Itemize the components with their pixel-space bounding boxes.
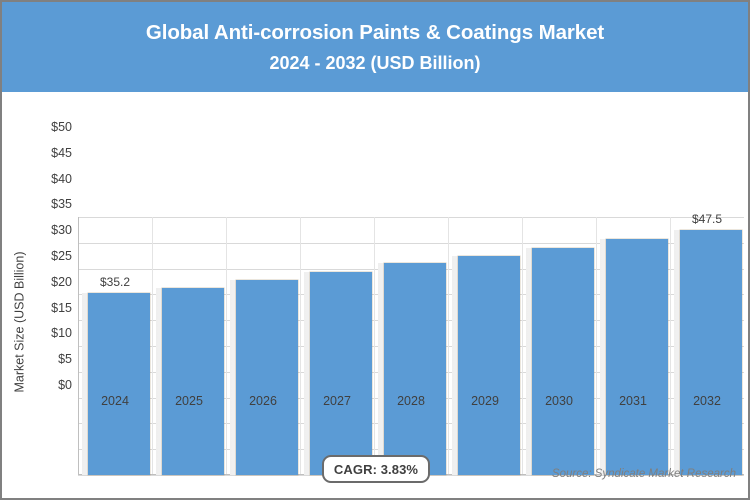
y-axis-tick-label: $20 xyxy=(32,276,72,288)
bar[interactable] xyxy=(384,263,446,475)
y-axis-tick-label: $35 xyxy=(32,198,72,210)
bar[interactable] xyxy=(236,280,298,475)
y-axis-tick-label: $10 xyxy=(32,327,72,339)
bar-slot[interactable] xyxy=(522,217,596,475)
bar[interactable] xyxy=(310,272,372,475)
y-axis-tick-label: $5 xyxy=(32,353,72,365)
source-note: Source: Syndicate Market Research xyxy=(552,468,736,480)
x-axis-tick-label: 2028 xyxy=(374,394,448,408)
bar[interactable] xyxy=(162,288,224,475)
y-axis-title-label: Market Size (USD Billion) xyxy=(12,251,26,392)
x-axis-tick-label: 2031 xyxy=(596,394,670,408)
y-axis-tick-label: $25 xyxy=(32,250,72,262)
y-axis-tick-label: $0 xyxy=(32,379,72,391)
y-axis-tick-label: $30 xyxy=(32,224,72,236)
bar-slot[interactable] xyxy=(300,217,374,475)
bar-slot[interactable] xyxy=(670,217,744,475)
page-title: Global Anti-corrosion Paints & Coatings … xyxy=(146,21,604,45)
x-axis-tick-label: 2024 xyxy=(78,394,152,408)
x-axis-tick-label: 2029 xyxy=(448,394,522,408)
bar-value-label: $35.2 xyxy=(78,275,152,289)
bar-slot[interactable] xyxy=(152,217,226,475)
x-axis-tick-label: 2030 xyxy=(522,394,596,408)
page-subtitle: 2024 - 2032 (USD Billion) xyxy=(269,53,480,74)
bar-value-label: $47.5 xyxy=(670,212,744,226)
x-axis-tick-label: 2027 xyxy=(300,394,374,408)
bar-chart-canvas: $35.2$47.5 xyxy=(78,217,744,475)
cagr-badge: CAGR: 3.83% xyxy=(322,455,430,483)
y-axis-title: Market Size (USD Billion) xyxy=(8,212,30,432)
bar[interactable] xyxy=(606,239,668,475)
bar-slot[interactable] xyxy=(226,217,300,475)
bar[interactable] xyxy=(88,293,150,475)
chart-frame: Global Anti-corrosion Paints & Coatings … xyxy=(0,0,750,500)
y-axis-tick-label: $40 xyxy=(32,173,72,185)
chart-plot-region: Market Size (USD Billion) $0$5$10$15$20$… xyxy=(2,92,748,498)
bar-slot[interactable] xyxy=(374,217,448,475)
x-axis-tick-label: 2025 xyxy=(152,394,226,408)
x-axis-tick-label: 2032 xyxy=(670,394,744,408)
bar[interactable] xyxy=(532,248,594,475)
y-axis-tick-label: $15 xyxy=(32,302,72,314)
chart-header-banner: Global Anti-corrosion Paints & Coatings … xyxy=(2,2,748,92)
y-axis-tick-label: $50 xyxy=(32,121,72,133)
bar-slot[interactable] xyxy=(448,217,522,475)
bar-slot[interactable] xyxy=(596,217,670,475)
bar[interactable] xyxy=(680,230,742,475)
cagr-label: CAGR: 3.83% xyxy=(334,462,418,477)
bar[interactable] xyxy=(458,256,520,475)
y-axis-tick-label: $45 xyxy=(32,147,72,159)
bar-slot[interactable] xyxy=(78,217,152,475)
x-axis-tick-label: 2026 xyxy=(226,394,300,408)
